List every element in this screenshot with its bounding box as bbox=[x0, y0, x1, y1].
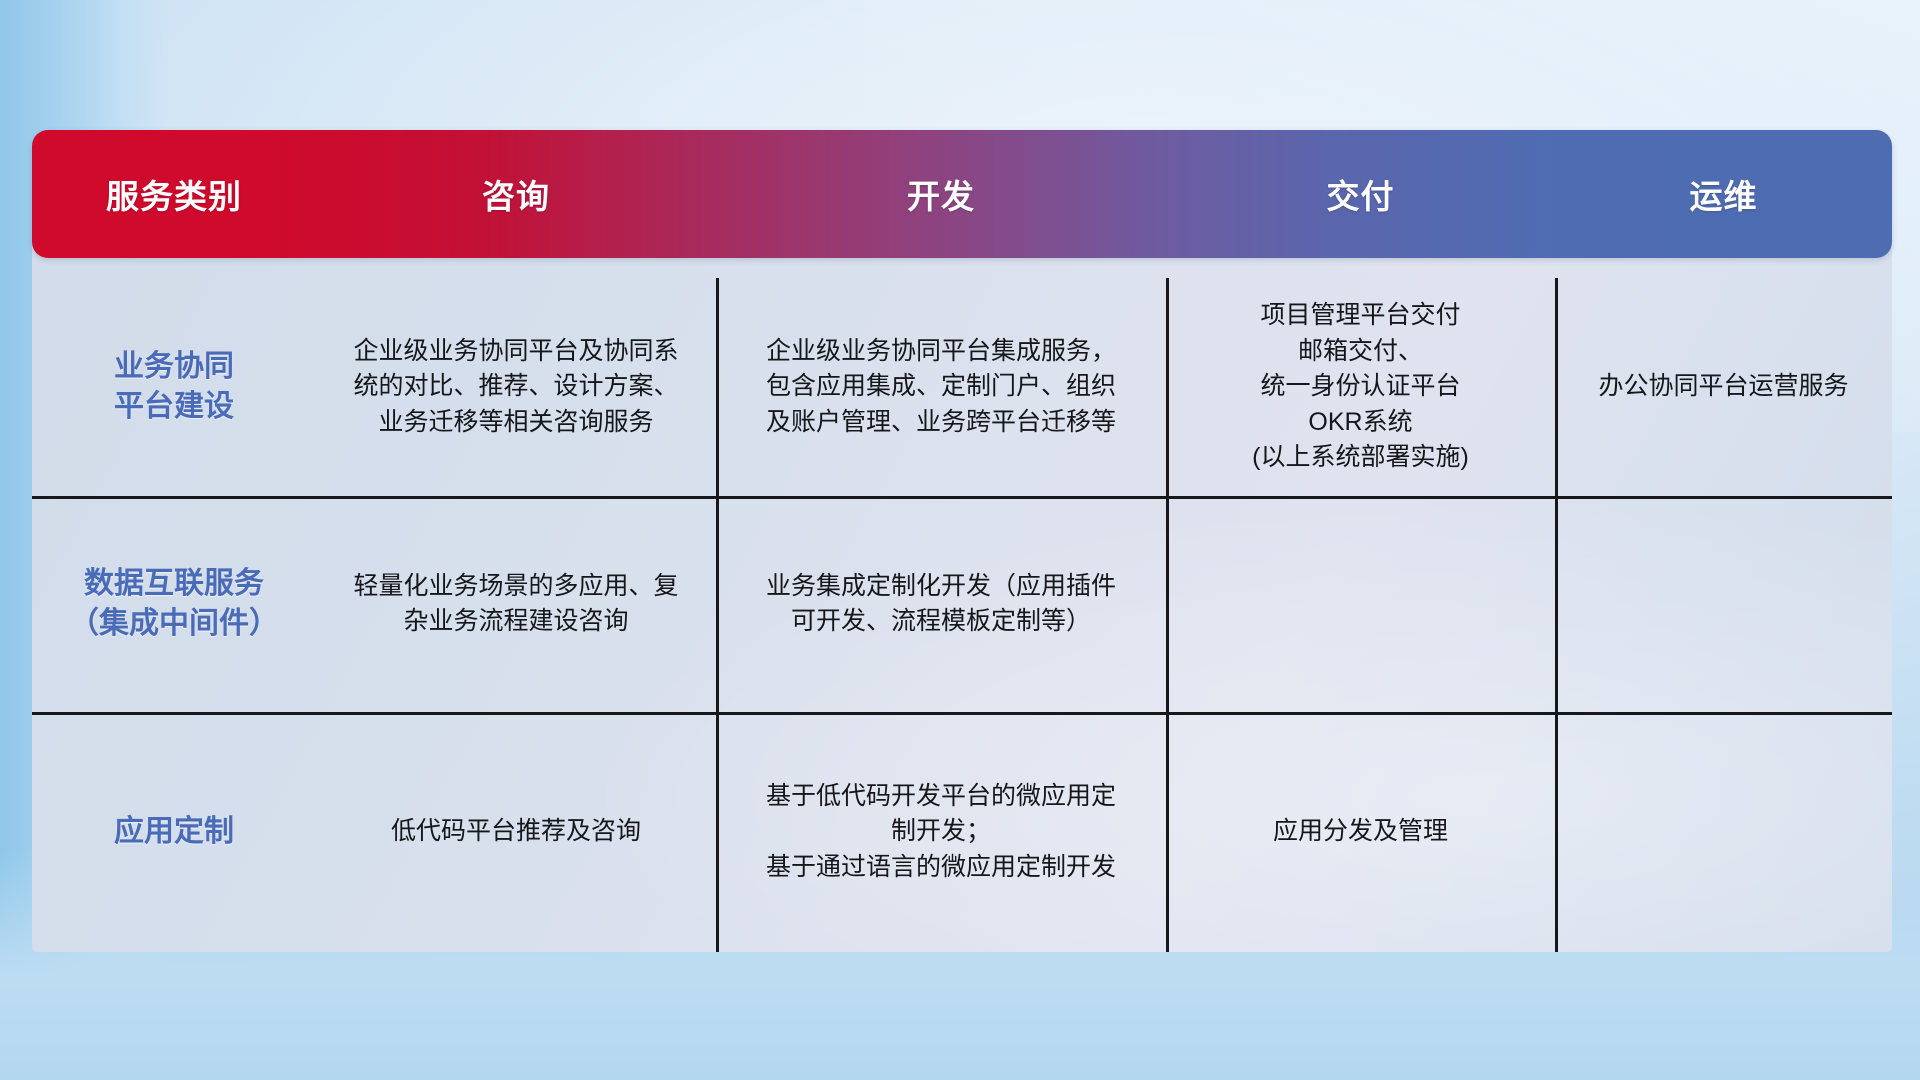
column-divider bbox=[1166, 496, 1169, 712]
cell-operations bbox=[1555, 712, 1892, 952]
column-divider bbox=[1555, 278, 1558, 496]
table-grid: 业务协同 平台建设 企业级业务协同平台及协同系 统的对比、推荐、设计方案、 业务… bbox=[32, 278, 1892, 952]
table-row: 数据互联服务 （集成中间件） 轻量化业务场景的多应用、复 杂业务流程建设咨询 业… bbox=[32, 496, 1892, 712]
column-header-operations: 运维 bbox=[1555, 170, 1892, 218]
column-divider bbox=[1555, 496, 1558, 712]
table-row: 业务协同 平台建设 企业级业务协同平台及协同系 统的对比、推荐、设计方案、 业务… bbox=[32, 278, 1892, 496]
table-header-row: 服务类别 咨询 开发 交付 运维 bbox=[32, 130, 1892, 258]
column-divider bbox=[1555, 712, 1558, 952]
column-header-development: 开发 bbox=[716, 170, 1166, 218]
column-divider bbox=[716, 496, 719, 712]
column-header-consulting: 咨询 bbox=[316, 170, 716, 218]
cell-delivery: 应用分发及管理 bbox=[1166, 712, 1555, 952]
column-divider bbox=[1166, 712, 1169, 952]
column-divider bbox=[1166, 278, 1169, 496]
cell-development: 企业级业务协同平台集成服务， 包含应用集成、定制门户、组织 及账户管理、业务跨平… bbox=[716, 278, 1166, 496]
cell-category: 业务协同 平台建设 bbox=[32, 278, 316, 496]
column-divider bbox=[716, 712, 719, 952]
table-row: 应用定制 低代码平台推荐及咨询 基于低代码开发平台的微应用定 制开发； 基于通过… bbox=[32, 712, 1892, 952]
cell-consulting: 轻量化业务场景的多应用、复 杂业务流程建设咨询 bbox=[316, 496, 716, 712]
service-matrix-table: 服务类别 咨询 开发 交付 运维 业务协同 平台建设 企业级业务协同平台及协同系… bbox=[32, 130, 1892, 952]
cell-delivery: 项目管理平台交付 邮箱交付、 统一身份认证平台 OKR系统 (以上系统部署实施) bbox=[1166, 278, 1555, 496]
cell-consulting: 低代码平台推荐及咨询 bbox=[316, 712, 716, 952]
column-header-category: 服务类别 bbox=[32, 170, 316, 218]
cell-delivery bbox=[1166, 496, 1555, 712]
column-divider bbox=[716, 278, 719, 496]
cell-development: 业务集成定制化开发（应用插件 可开发、流程模板定制等） bbox=[716, 496, 1166, 712]
cell-operations bbox=[1555, 496, 1892, 712]
cell-category: 应用定制 bbox=[32, 712, 316, 952]
cell-consulting: 企业级业务协同平台及协同系 统的对比、推荐、设计方案、 业务迁移等相关咨询服务 bbox=[316, 278, 716, 496]
cell-category: 数据互联服务 （集成中间件） bbox=[32, 496, 316, 712]
cell-operations: 办公协同平台运营服务 bbox=[1555, 278, 1892, 496]
cell-development: 基于低代码开发平台的微应用定 制开发； 基于通过语言的微应用定制开发 bbox=[716, 712, 1166, 952]
column-header-delivery: 交付 bbox=[1166, 170, 1555, 218]
